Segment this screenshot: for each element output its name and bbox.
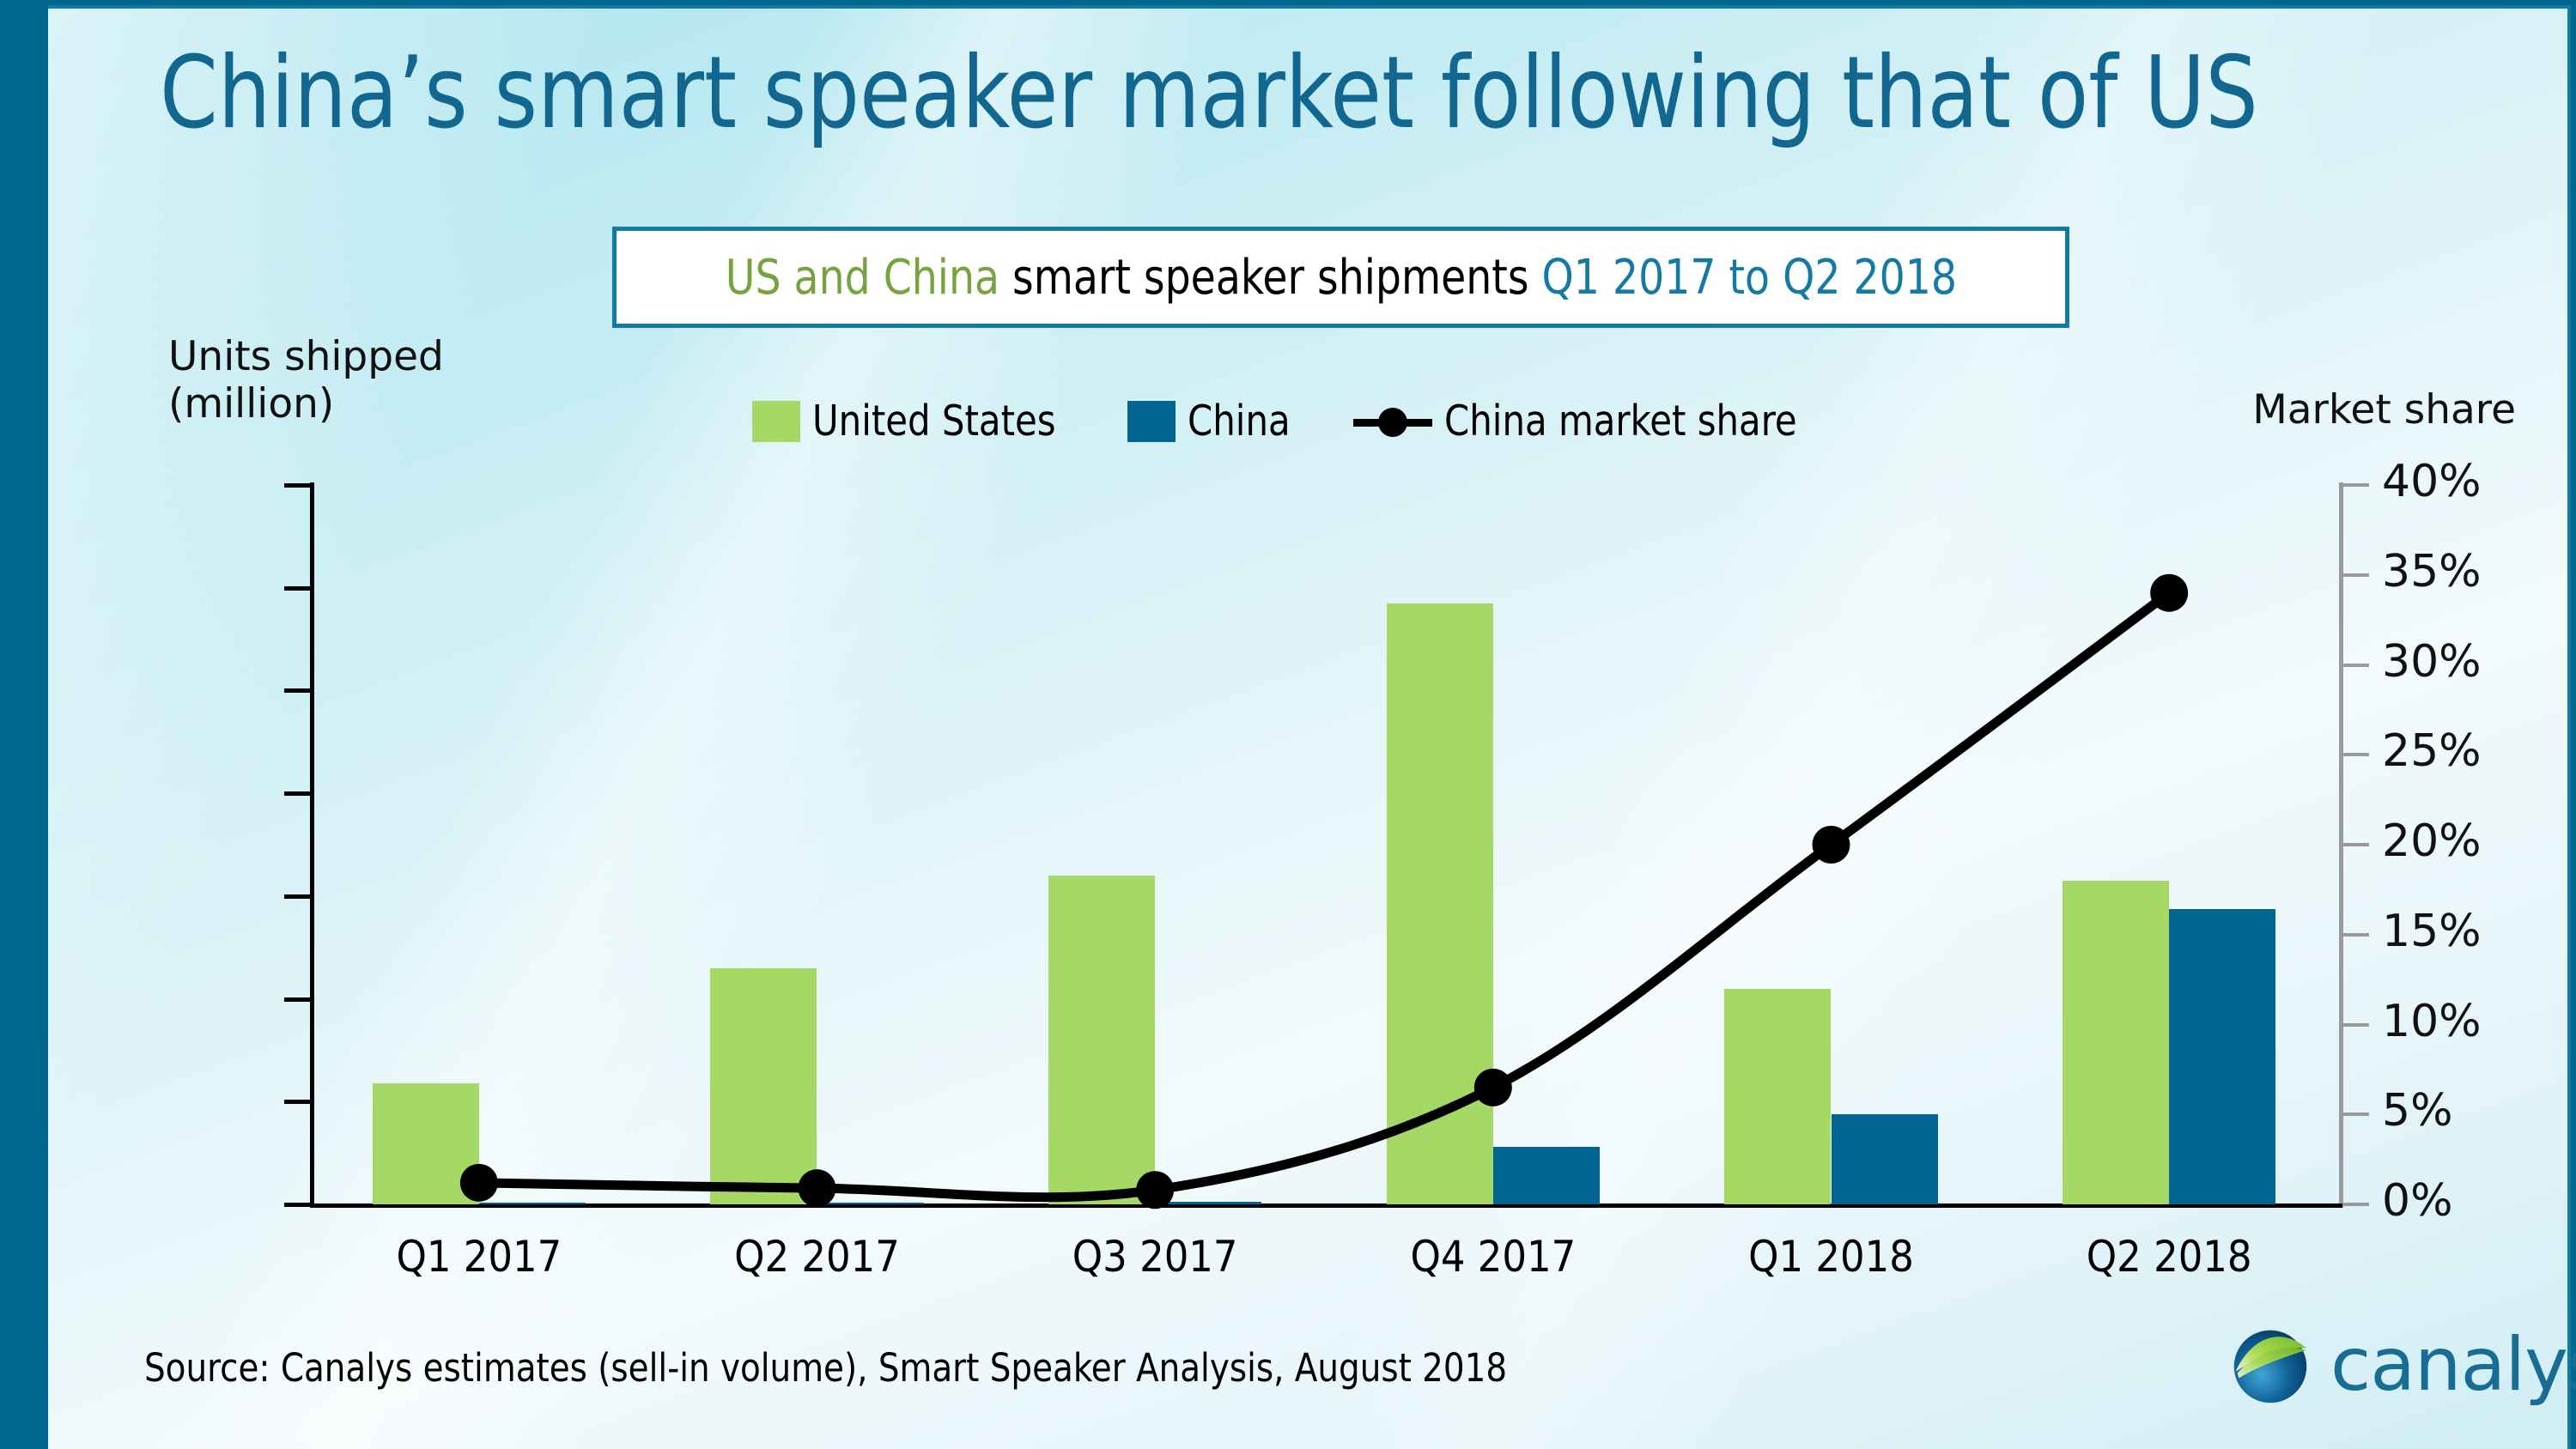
y-axis-right-tick-label: 0%	[2382, 1175, 2453, 1227]
legend-swatch-icon-china	[1127, 401, 1176, 442]
y-axis-left-tick	[284, 997, 310, 1002]
line-marker	[2150, 574, 2188, 612]
y-axis-right-tick	[2343, 483, 2369, 487]
line-marker	[1813, 826, 1850, 864]
y-axis-left-tick	[284, 586, 310, 591]
legend-item-china[interactable]: China	[1127, 397, 1296, 446]
y-axis-right-tick-label: 40%	[2382, 456, 2482, 507]
y-axis-right-tick	[2343, 1113, 2369, 1116]
x-axis-label: Q1 2018	[1662, 1232, 2001, 1282]
line-marker	[1136, 1171, 1174, 1209]
y-axis-right-tick	[2343, 573, 2369, 577]
y-axis-right-tick	[2343, 843, 2369, 846]
y-axis-right-tick	[2343, 753, 2369, 756]
y-axis-right-tick-label: 15%	[2382, 906, 2482, 957]
legend-label-china: China	[1188, 397, 1291, 446]
y-axis-right-tick	[2343, 1023, 2369, 1027]
subtitle-part-regions: US and China	[725, 250, 999, 306]
subtitle-part-metric: smart speaker shipments	[999, 250, 1542, 306]
slide-root: China’s smart speaker market following t…	[0, 0, 2576, 1449]
y-axis-left-tick	[284, 894, 310, 899]
x-axis-label: Q2 2018	[2000, 1232, 2338, 1282]
x-axis-label: Q4 2017	[1324, 1232, 1662, 1282]
legend-label-china-market-share: China market share	[1444, 397, 1797, 446]
y-axis-right-tick-label: 35%	[2382, 546, 2482, 597]
line-marker	[460, 1164, 498, 1202]
subtitle-part-period: Q1 2017 to Q2 2018	[1541, 250, 1956, 306]
subtitle-box: US and China smart speaker shipments Q1 …	[612, 227, 2069, 328]
line-marker	[799, 1169, 836, 1207]
legend-line-marker-icon	[1353, 401, 1432, 442]
x-axis-label: Q2 2017	[648, 1232, 987, 1282]
slide-canvas: China’s smart speaker market following t…	[48, 5, 2571, 1449]
china-market-share-line	[310, 485, 2338, 1204]
legend-item-china-market-share[interactable]: China market share	[1353, 397, 1815, 446]
x-axis-label: Q1 2017	[310, 1232, 648, 1282]
y-axis-right-tick-label: 25%	[2382, 725, 2482, 777]
subtitle-text: US and China smart speaker shipments Q1 …	[725, 250, 1956, 306]
left-axis-title: Units shipped (million)	[168, 333, 444, 428]
right-axis-title: Market share	[2252, 386, 2516, 433]
x-axis-label: Q3 2017	[986, 1232, 1324, 1282]
y-axis-left-tick	[284, 1100, 310, 1104]
y-axis-right-tick-label: 30%	[2382, 636, 2482, 688]
source-note: Source: Canalys estimates (sell-in volum…	[144, 1345, 1507, 1391]
y-axis-right-tick-label: 20%	[2382, 815, 2482, 867]
plot-area	[310, 485, 2338, 1204]
y-axis-right-tick-label: 10%	[2382, 996, 2482, 1047]
y-axis-right-tick	[2343, 933, 2369, 937]
y-axis-right-tick	[2343, 1203, 2369, 1206]
legend-item-united-states[interactable]: United States	[752, 397, 1069, 446]
y-axis-left-tick	[284, 791, 310, 796]
legend-swatch-icon-united-states	[752, 401, 800, 442]
y-axis-left-tick	[284, 483, 310, 488]
line-marker	[1474, 1069, 1512, 1106]
line-path	[479, 593, 2169, 1197]
legend-label-united-states: United States	[812, 397, 1056, 446]
y-axis-left-tick	[284, 1203, 310, 1207]
page-title: China’s smart speaker market following t…	[160, 41, 2379, 146]
canalys-globe-icon	[2229, 1324, 2312, 1406]
plot-inner	[310, 485, 2338, 1204]
y-axis-left-tick	[284, 688, 310, 693]
chart-legend: United States China China market share	[752, 397, 1816, 446]
canalys-logo[interactable]: canalys	[2229, 1322, 2576, 1408]
y-axis-right-tick	[2343, 664, 2369, 667]
y-axis-right-tick-label: 5%	[2382, 1085, 2453, 1137]
canalys-logo-text: canalys	[2330, 1322, 2576, 1408]
